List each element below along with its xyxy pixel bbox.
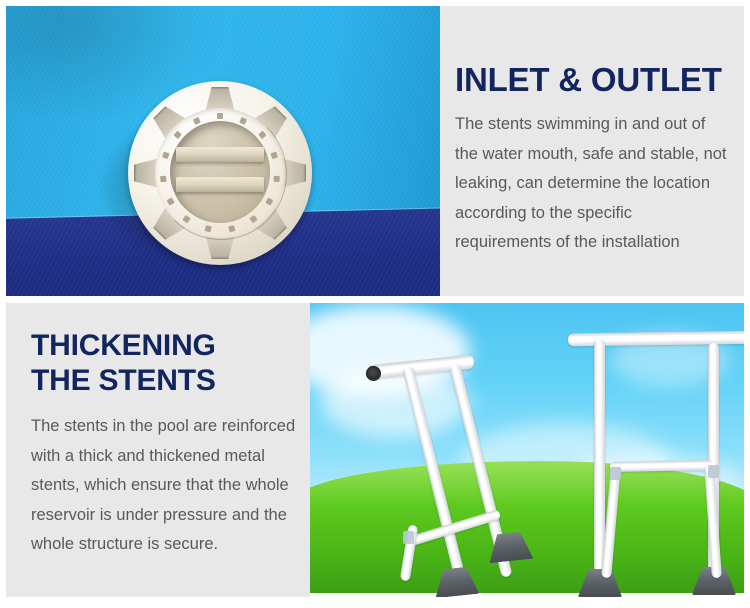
cloud bbox=[320, 367, 470, 437]
pool-metal-stents-photo bbox=[310, 303, 744, 597]
stent-lower-brace bbox=[610, 460, 714, 472]
fitting-rim-highlight bbox=[155, 108, 287, 240]
thickening-heading: THICKENING THE STENTS bbox=[6, 303, 310, 398]
thickening-text-panel: THICKENING THE STENTS The stents in the … bbox=[6, 303, 310, 597]
inlet-outlet-heading: INLET & OUTLET bbox=[440, 6, 744, 98]
inlet-outlet-fitting bbox=[128, 81, 312, 265]
stent-collar bbox=[708, 465, 719, 478]
pool-inlet-fitting-photo bbox=[6, 6, 440, 296]
product-feature-board: INLET & OUTLET The stents swimming in an… bbox=[0, 0, 750, 608]
thickening-body: The stents in the pool are reinforced wi… bbox=[6, 398, 310, 560]
inlet-outlet-text-panel: INLET & OUTLET The stents swimming in an… bbox=[440, 6, 744, 296]
thickening-heading-line2: THE STENTS bbox=[31, 364, 216, 397]
pipe-open-end-cap bbox=[366, 366, 381, 381]
inlet-outlet-body: The stents swimming in and out of the wa… bbox=[440, 98, 744, 258]
stent-collar bbox=[610, 467, 621, 480]
stent-collar bbox=[403, 531, 414, 544]
grass-field bbox=[310, 461, 744, 593]
thickening-heading-line1: THICKENING bbox=[31, 329, 216, 362]
